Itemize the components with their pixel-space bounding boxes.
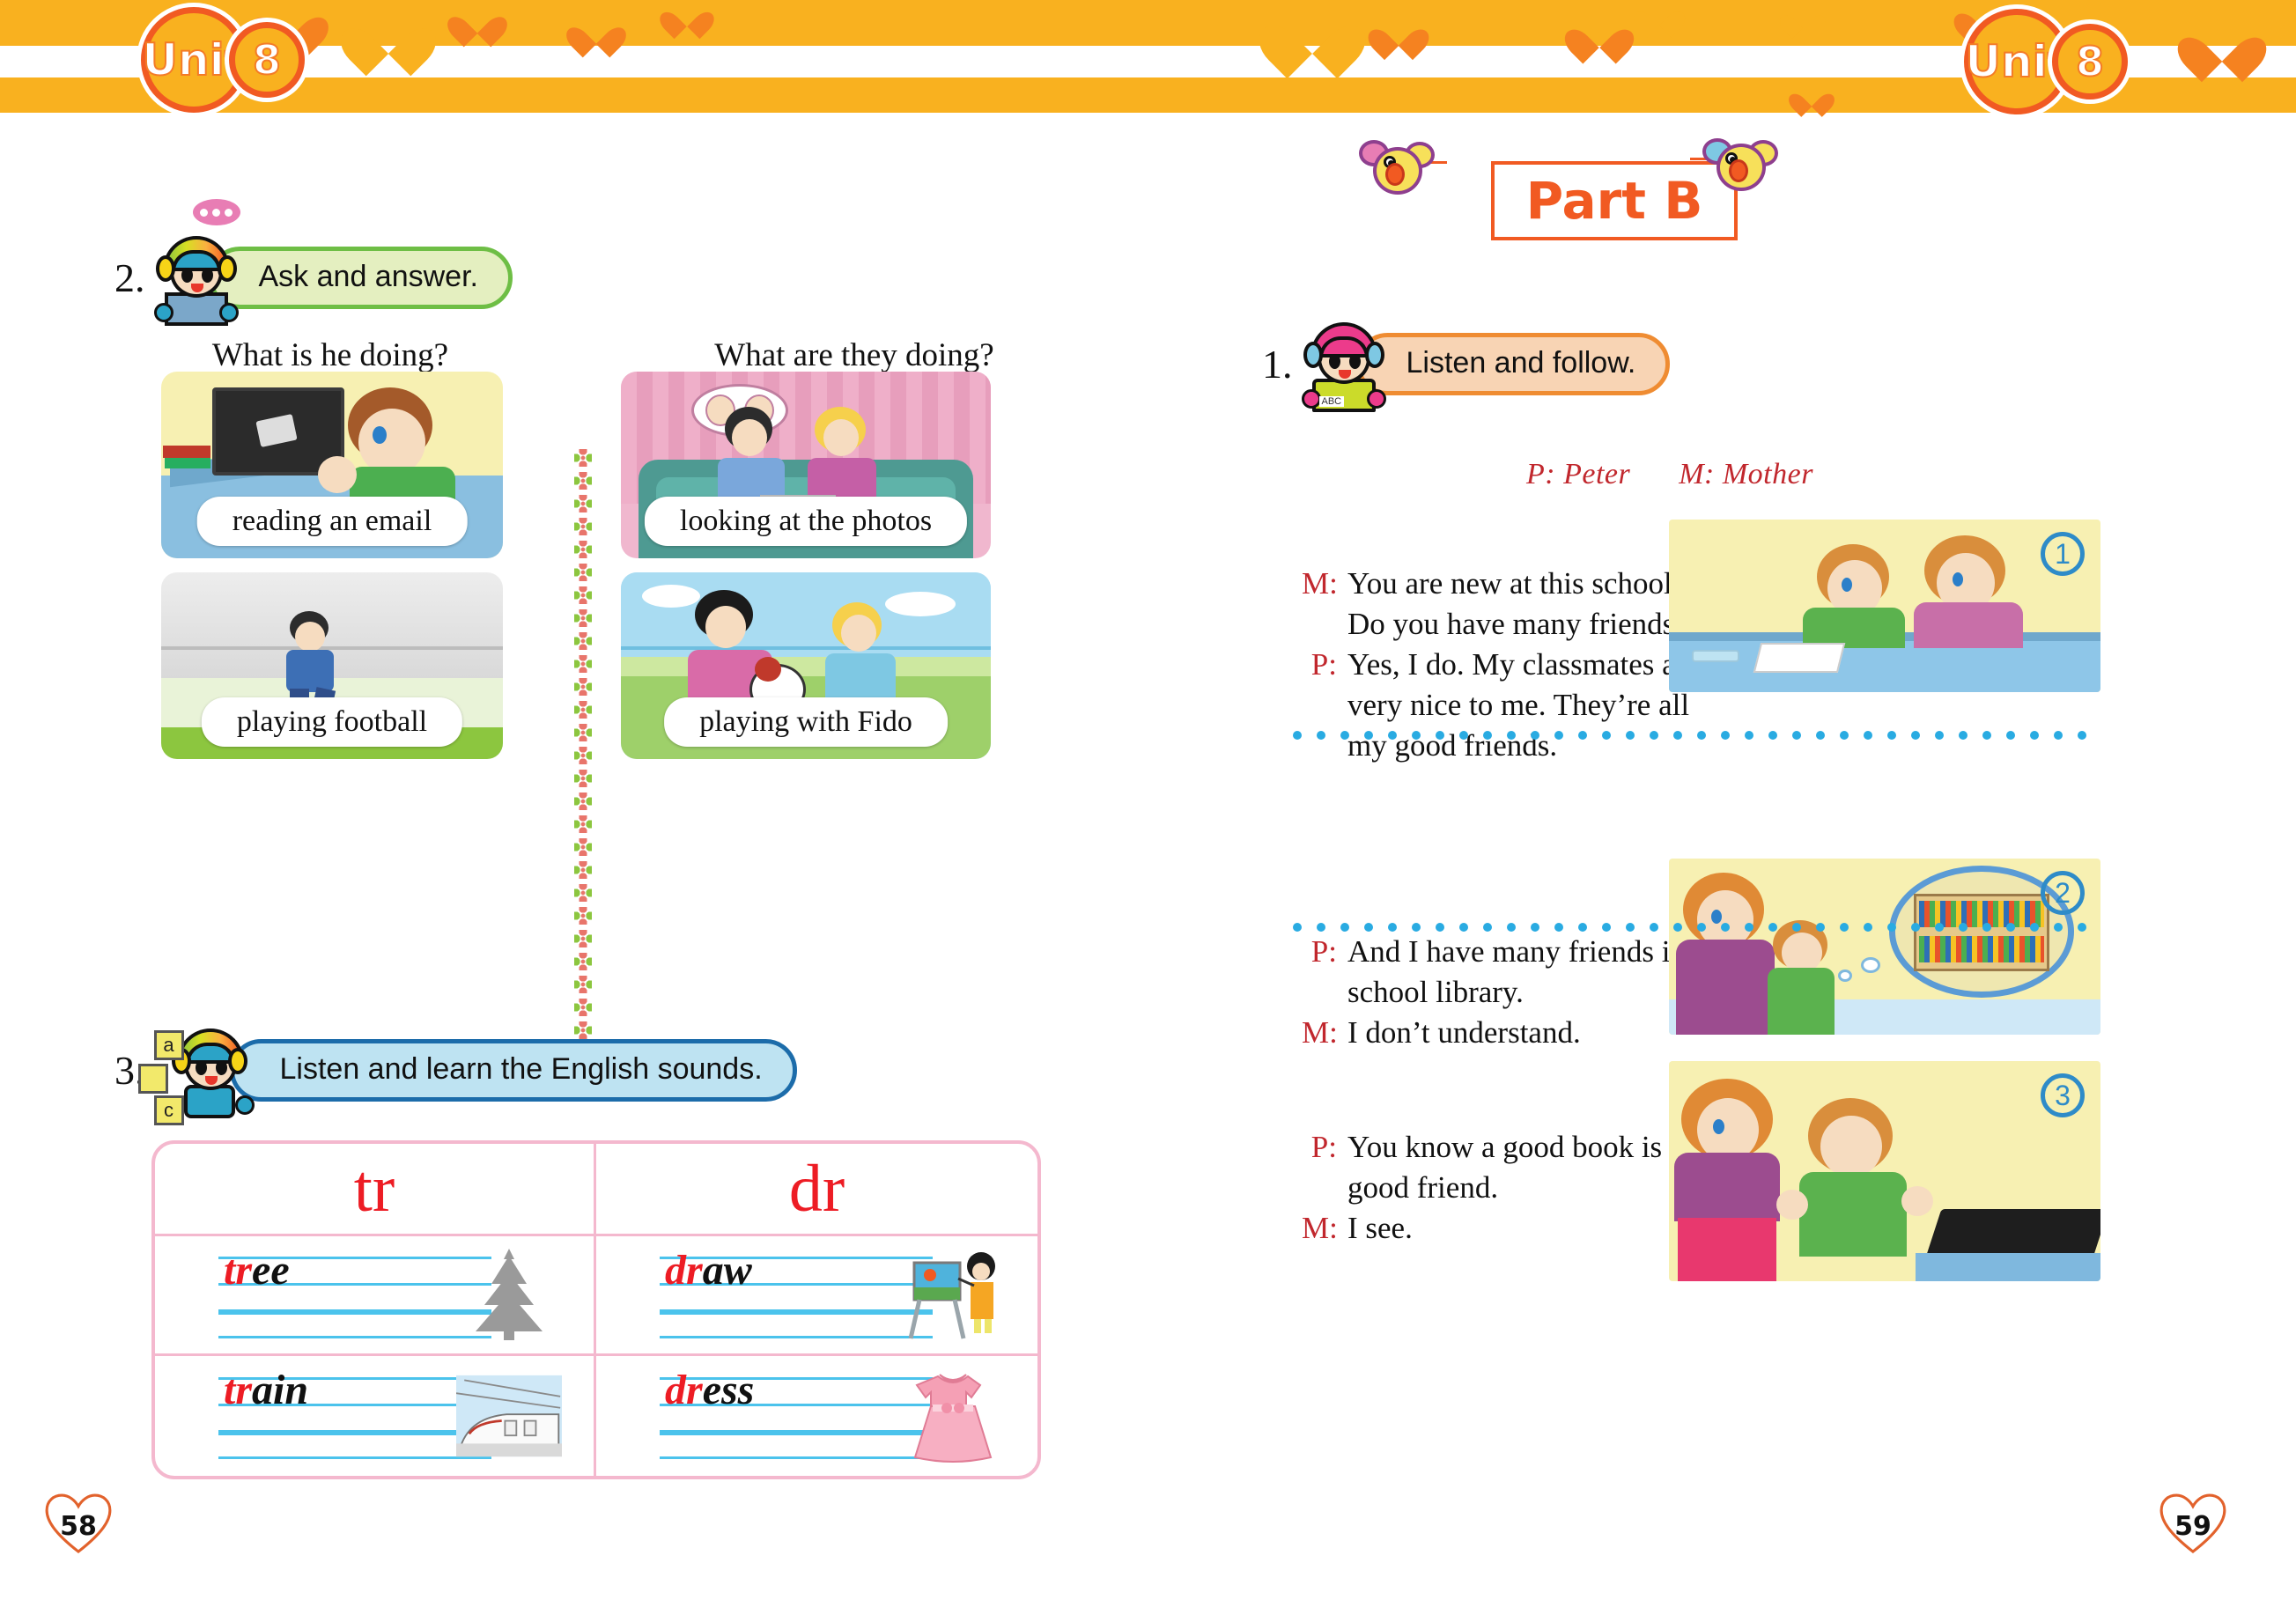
dialogue-speaker: M: [1302,564,1347,604]
dialogue-speaker: P: [1302,645,1347,685]
phonics-word-tree: tree [224,1245,290,1296]
mascot-earphone-left [156,255,175,282]
dialogue-line: P: Yes, I do. My classmates are [1302,645,1716,685]
boy-eye [373,426,387,444]
dialogue-text: good friend. [1347,1168,1716,1208]
dialogue-speaker: M: [1302,1013,1347,1053]
task-3-header: 3. a c Listen and learn the English soun… [114,1021,797,1118]
mascot-eye-right [202,268,213,283]
book-green [165,458,210,468]
top-banner: Unit 8 Unit 8 [0,0,2296,132]
scene-3: 3 [1669,1061,2100,1281]
heart-decoration [1797,84,1827,112]
task-1-header: 1. ABC Listen and follow. [1262,315,1670,412]
boy2-eye [1953,572,1963,586]
task-1-number: 1. [1262,341,1293,387]
dialogue-speaker: M: [1302,1208,1347,1249]
phonics-word-train: train [224,1365,308,1416]
notebook [1753,643,1845,673]
high-speed-train-icon [456,1368,562,1464]
task-2-label: Ask and answer. [209,247,513,309]
mother3-skirt [1678,1218,1776,1281]
christmas-tree-icon [456,1247,562,1344]
mascot-hand-left [154,303,173,322]
dotted-separator-2 [1293,923,2103,932]
bird-left-icon [1359,138,1435,202]
girl2-face [823,419,859,456]
floral-divider [571,449,595,1065]
task-2-header: 2. Ask and answer. [114,229,513,326]
letter-card-c: c [154,1095,184,1125]
dialogue-line: good friend. [1302,1168,1716,1208]
girl1-face [732,419,767,456]
dialogue-line: M: I see. [1302,1208,1716,1249]
phonics-cell-draw: draw [596,1236,1037,1356]
dialogue-text: very nice to me. They’re all [1347,685,1716,726]
unit-number-left: 8 [229,22,305,98]
boy3-face [1820,1116,1882,1177]
picture-caption: playing with Fido [664,697,948,747]
mascot-eye-right [216,1060,227,1075]
mascot-hand-right [235,1095,255,1115]
dialogue-line: Do you have many friends? [1302,604,1716,645]
cloud-1 [642,585,700,608]
goal-crossbar [161,646,503,650]
part-b-banner: Part B [1491,154,1738,247]
abc-label: ABC [1319,396,1345,407]
page-number-left: 58 [44,1493,113,1556]
page-number-right: 59 [2159,1493,2227,1556]
speaker-key-peter: P: Peter [1526,458,1630,490]
picture-caption: playing football [202,697,462,747]
books-row-2 [1919,936,2044,962]
fence-rail [621,646,991,650]
mother3-blouse [1674,1153,1780,1221]
heart-decoration [458,4,497,41]
fido-girl-face [705,606,746,648]
phonics-header-tr: tr [155,1144,596,1236]
heart-decoration [1788,5,1818,33]
dialogue-line: M: You are new at this school. [1302,564,1716,604]
unit-badge-left: Unit 8 [141,7,305,113]
bubble-tail-2 [1838,970,1852,982]
phonics-word-dress: dress [665,1365,754,1416]
dialogue-block-3: P: You know a good book is a good friend… [1302,1127,1716,1249]
boy-mascot-letters-icon: a c [154,1021,260,1118]
dialogue-line: very nice to me. They’re all [1302,685,1716,726]
dialogue-text: You know a good book is a [1347,1127,1716,1168]
right-page: Part B 1. ABC Listen and follow. [1148,132,2296,1622]
speaker-key: P: Peter M: Mother [1526,458,1854,491]
pink-dress-icon [900,1368,1006,1464]
fido-girl2-face [841,615,876,652]
book-red [163,446,210,458]
dialogue-speaker [1302,685,1347,726]
dialogue-speaker [1302,1168,1347,1208]
phonics-table: tr dr tree draw [151,1140,1041,1479]
heart-decoration [1277,2,1347,67]
heart-decoration [1576,14,1622,56]
heart-decoration [577,14,616,51]
girl-mascot-icon: ABC [1302,315,1386,412]
heart-decoration [357,7,420,65]
unit-badge-right: Unit 8 [1964,9,2128,114]
boy3-hand-left [1776,1190,1808,1220]
dialogue-line: P: You know a good book is a [1302,1127,1716,1168]
mascot-hand-left [1302,389,1321,409]
letter-card-a: a [154,1030,184,1060]
mascot-earphone-right [1365,342,1384,368]
picture-card-looking-photos: looking at the photos [621,372,991,558]
girl-painting-easel-icon [900,1247,1006,1344]
dialogue-speaker [1302,972,1347,1013]
banner-band-lower [0,77,2296,113]
eraser [1692,650,1739,662]
heart-decoration [2193,18,2251,72]
phonics-cell-train: train [155,1356,596,1476]
boy2-shirt [1914,602,2023,648]
mascot-earphone-right [218,255,237,282]
dialogue-text: You are new at this school. [1347,564,1716,604]
unit-number-right: 8 [2052,24,2128,100]
mascot-hand-right [219,303,239,322]
mascot-eye-left [1329,354,1340,369]
dialogue-speaker [1302,604,1347,645]
dialogue-speaker: P: [1302,932,1347,972]
bubble-tail-1 [1861,957,1880,973]
speaker-key-mother: M: Mother [1679,458,1813,490]
table-surface [1916,1253,2100,1281]
scene-1: 1 [1669,520,2100,692]
thought-bubble-icon [193,199,240,225]
boy-face [358,409,425,476]
letter-card-blank [138,1064,168,1094]
task-3-label: Listen and learn the English sounds. [230,1039,797,1102]
football-boy-face [295,622,325,652]
dog-fido-ear [755,657,781,682]
picture-caption: reading an email [197,497,468,546]
mascot-eye-left [196,1060,207,1075]
boy3-hand-right [1901,1186,1933,1216]
picture-card-playing-football: playing football [161,572,503,759]
scene-badge-2: 2 [2041,871,2085,915]
boy-mascot-icon [154,229,239,326]
park-path [621,657,991,676]
mascot-earphone-left [1303,342,1323,368]
mascot-eye-left [181,268,193,283]
heart-decoration [669,0,705,33]
bird-right-icon [1702,135,1778,198]
mascot-hand-right [1367,389,1386,409]
cloud-2 [885,592,956,616]
phonics-cell-tree: tree [155,1236,596,1356]
boy1-eye [1842,578,1852,592]
part-b-label: Part B [1491,154,1738,247]
heart-decoration [1378,16,1419,53]
football-boy-shirt [286,650,334,692]
scene-2: 2 [1669,859,2100,1035]
picture-card-playing-fido: playing with Fido [621,572,991,759]
boy3-shirt [1799,1172,1907,1257]
picture-card-reading-email: reading an email [161,372,503,558]
scene-badge-1: 1 [2041,532,2085,576]
mascot-earphone-right [228,1048,247,1074]
phonics-word-draw: draw [665,1245,752,1296]
dotted-separator-1 [1293,731,2103,740]
dialogue-speaker: P: [1302,1127,1347,1168]
dialogue-text: Yes, I do. My classmates are [1347,645,1716,685]
task-1-label: Listen and follow. [1356,333,1671,395]
mother-eye [1711,910,1722,924]
boy-shirt [1768,968,1835,1035]
dialogue-text: I see. [1347,1208,1716,1249]
task-2-number: 2. [114,254,145,301]
page-number-text: 58 [60,1511,97,1542]
boy-waving-hand [318,456,357,493]
question-heading-2: What are they doing? [608,336,1101,374]
mother-blouse [1676,940,1775,1035]
mother3-eye [1713,1119,1724,1134]
left-page: 2. Ask and answer. What is he doing? Wha… [0,132,1148,1622]
phonics-header-dr: dr [596,1144,1037,1236]
picture-caption: looking at the photos [645,497,967,546]
heart-decoration [1643,0,1676,32]
question-heading-1: What is he doing? [123,336,537,374]
page-number-text: 59 [2174,1511,2211,1542]
phonics-cell-dress: dress [596,1356,1037,1476]
dialogue-text: Do you have many friends? [1347,604,1716,645]
scene-badge-3: 3 [2041,1073,2085,1117]
mascot-eye-right [1349,354,1361,369]
